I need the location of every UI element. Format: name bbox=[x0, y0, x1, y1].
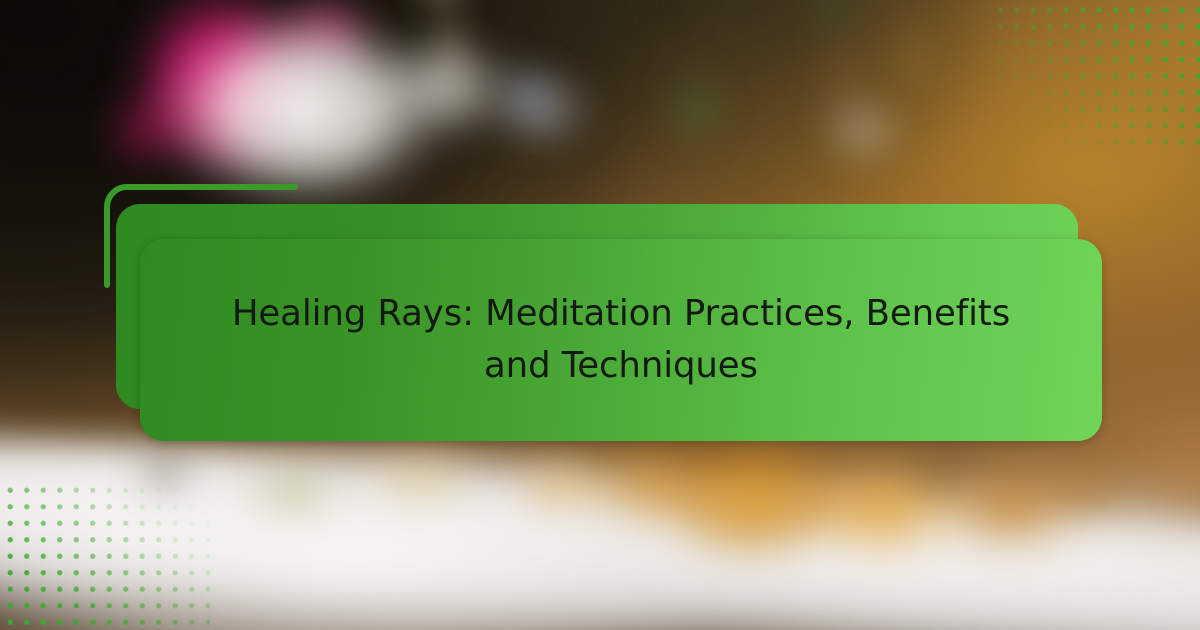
page-title: Healing Rays: Meditation Practices, Bene… bbox=[140, 288, 1102, 392]
title-card: Healing Rays: Meditation Practices, Bene… bbox=[140, 239, 1102, 441]
share-card-canvas: Healing Rays: Meditation Practices, Bene… bbox=[0, 0, 1200, 630]
